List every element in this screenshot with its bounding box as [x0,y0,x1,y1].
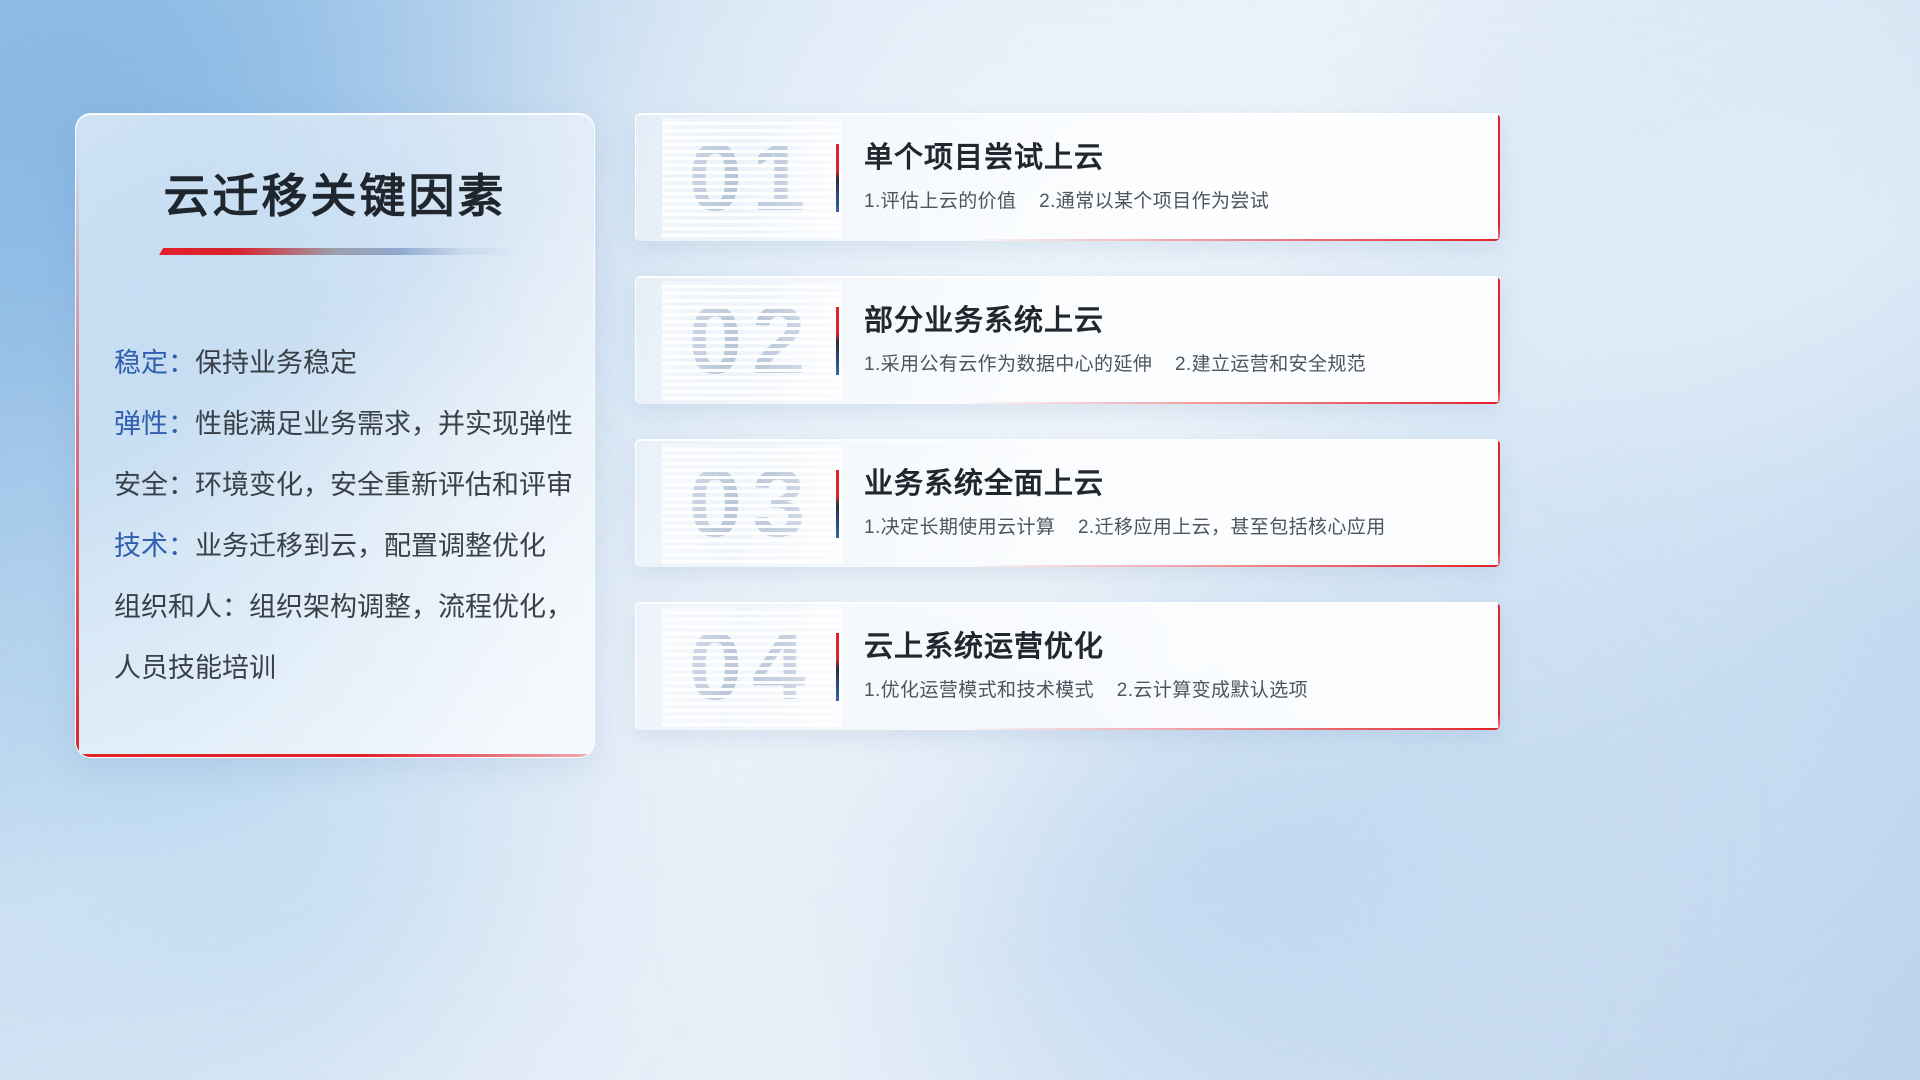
stage-number-text: 01 [662,118,842,238]
stage-card-body: 部分业务系统上云1.采用公有云作为数据中心的延伸 2.建立运营和安全规范 [864,301,1470,379]
stage-description: 1.优化运营模式和技术模式 2.云计算变成默认选项 [864,677,1470,705]
stage-title: 云上系统运营优化 [864,627,1470,667]
key-factor-value: 保持业务稳定 [195,348,357,378]
stage-title: 业务系统全面上云 [864,464,1470,504]
stage-description: 1.决定长期使用云计算 2.迁移应用上云，甚至包括核心应用 [864,514,1470,542]
key-factor-item: 弹性：性能满足业务需求，并实现弹性 [114,394,594,455]
key-factor-value: 人员技能培训 [114,653,276,683]
key-factor-value: 环境变化，安全重新评估和评审 [195,470,573,500]
key-factor-label: 组织和人： [114,592,249,622]
page-title: 云迁移关键因素 [76,160,594,226]
key-factors-panel: 云迁移关键因素 稳定：保持业务稳定弹性：性能满足业务需求，并实现弹性安全：环境变… [75,113,595,758]
stage-number-text: 02 [662,281,842,401]
stage-accent-bar [836,470,839,538]
stage-card-body: 云上系统运营优化1.优化运营模式和技术模式 2.云计算变成默认选项 [864,627,1470,705]
stage-description: 1.采用公有云作为数据中心的延伸 2.建立运营和安全规范 [864,351,1470,379]
key-factor-value: 组织架构调整，流程优化， [249,592,573,622]
stage-number-watermark: 03 [662,444,842,564]
key-factor-item: 人员技能培训 [114,638,594,699]
title-underline-gradient [159,248,511,255]
stage-accent-bar [836,633,839,701]
stage-card[interactable]: 02部分业务系统上云1.采用公有云作为数据中心的延伸 2.建立运营和安全规范 [635,276,1500,404]
stage-accent-bar [836,144,839,212]
key-factor-label: 安全： [114,470,195,500]
stage-number-watermark: 01 [662,118,842,238]
key-factor-value: 性能满足业务需求，并实现弹性 [195,409,573,439]
key-factor-value: 业务迁移到云，配置调整优化 [195,531,546,561]
key-factor-label: 弹性： [114,409,195,439]
stage-card[interactable]: 04云上系统运营优化1.优化运营模式和技术模式 2.云计算变成默认选项 [635,602,1500,730]
cloud-migration-stages-list: 01单个项目尝试上云1.评估上云的价值 2.通常以某个项目作为尝试02部分业务系… [635,113,1500,765]
key-factor-item: 稳定：保持业务稳定 [114,333,594,394]
stage-title: 部分业务系统上云 [864,301,1470,341]
stage-card[interactable]: 01单个项目尝试上云1.评估上云的价值 2.通常以某个项目作为尝试 [635,113,1500,241]
stage-number-text: 04 [662,607,842,727]
stage-card-body: 单个项目尝试上云1.评估上云的价值 2.通常以某个项目作为尝试 [864,138,1470,216]
stage-card[interactable]: 03业务系统全面上云1.决定长期使用云计算 2.迁移应用上云，甚至包括核心应用 [635,439,1500,567]
stage-number-watermark: 04 [662,607,842,727]
key-factor-label: 稳定： [114,348,195,378]
stage-description: 1.评估上云的价值 2.通常以某个项目作为尝试 [864,188,1470,216]
key-factor-label: 技术： [114,531,195,561]
stage-number-text: 03 [662,444,842,564]
stage-title: 单个项目尝试上云 [864,138,1470,178]
stage-card-body: 业务系统全面上云1.决定长期使用云计算 2.迁移应用上云，甚至包括核心应用 [864,464,1470,542]
key-factor-item: 组织和人：组织架构调整，流程优化， [114,577,594,638]
stage-accent-bar [836,307,839,375]
key-factor-item: 技术：业务迁移到云，配置调整优化 [114,516,594,577]
key-factor-item: 安全：环境变化，安全重新评估和评审 [114,455,594,516]
stage-number-watermark: 02 [662,281,842,401]
key-factors-list: 稳定：保持业务稳定弹性：性能满足业务需求，并实现弹性安全：环境变化，安全重新评估… [114,333,594,699]
